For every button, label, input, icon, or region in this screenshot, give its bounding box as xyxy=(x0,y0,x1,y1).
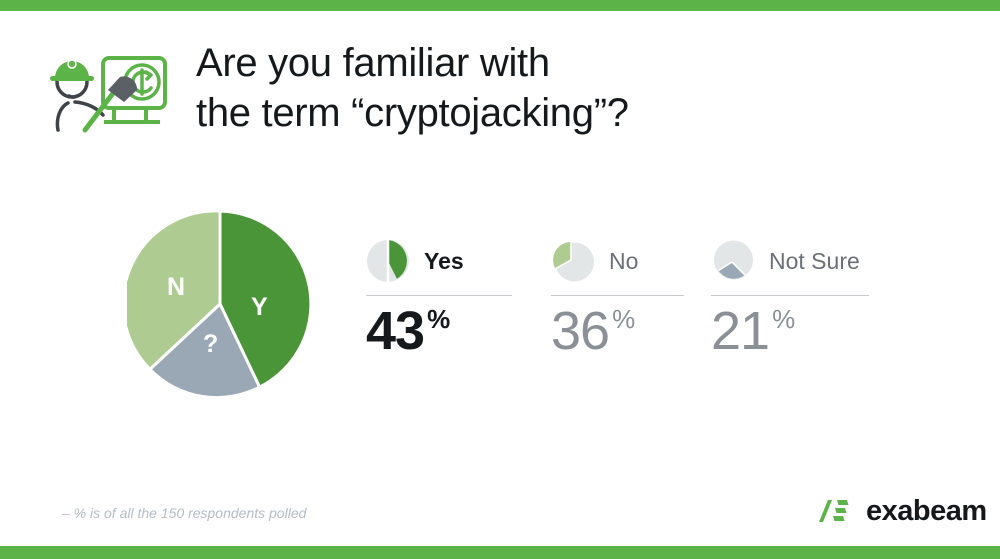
stat-divider-not-sure xyxy=(711,295,869,296)
top-accent-bar xyxy=(0,0,1000,11)
infographic-canvas: Are you familiar with the term “cryptoja… xyxy=(0,0,1000,559)
exabeam-logo: exabeam xyxy=(818,494,987,528)
stat-number-no: 36 xyxy=(551,304,609,358)
stat-percent-sign-no: % xyxy=(612,306,635,332)
stat-block-no: No 36 % xyxy=(551,236,691,358)
stat-header-not-sure: Not Sure xyxy=(711,236,876,286)
stat-block-not-sure: Not Sure 21 % xyxy=(711,236,876,358)
mini-pie-no xyxy=(551,239,595,283)
stat-divider-yes xyxy=(366,295,512,296)
page-title: Are you familiar with the term “cryptoja… xyxy=(196,38,896,138)
stat-number-yes: 43 xyxy=(366,304,424,358)
pie-svg xyxy=(127,211,313,397)
stat-percent-sign-yes: % xyxy=(427,306,450,332)
crypto-miner-icon xyxy=(42,46,172,142)
stat-header-no: No xyxy=(551,236,691,286)
stat-label-no: No xyxy=(609,250,638,273)
header: Are you familiar with the term “cryptoja… xyxy=(0,38,1000,148)
stat-blocks: Yes 43 % No 36 % xyxy=(366,236,966,366)
mini-pie-yes xyxy=(366,239,410,283)
exabeam-logo-mark xyxy=(818,498,858,524)
stat-header-yes: Yes xyxy=(366,236,516,286)
footnote: – % is of all the 150 respondents polled xyxy=(62,505,306,521)
stat-number-not-sure: 21 xyxy=(711,304,769,358)
stat-block-yes: Yes 43 % xyxy=(366,236,516,358)
stat-divider-no xyxy=(551,295,684,296)
mini-pie-not-sure xyxy=(711,239,755,283)
stat-value-no: 36 % xyxy=(551,304,691,358)
exabeam-logo-text: exabeam xyxy=(866,497,987,526)
stat-value-yes: 43 % xyxy=(366,304,516,358)
main-pie-chart: Y N ? xyxy=(127,211,313,397)
stat-label-yes: Yes xyxy=(424,250,464,273)
stat-value-not-sure: 21 % xyxy=(711,304,876,358)
stat-percent-sign-not-sure: % xyxy=(772,306,795,332)
bottom-accent-bar xyxy=(0,546,1000,559)
stat-label-not-sure: Not Sure xyxy=(769,250,860,273)
